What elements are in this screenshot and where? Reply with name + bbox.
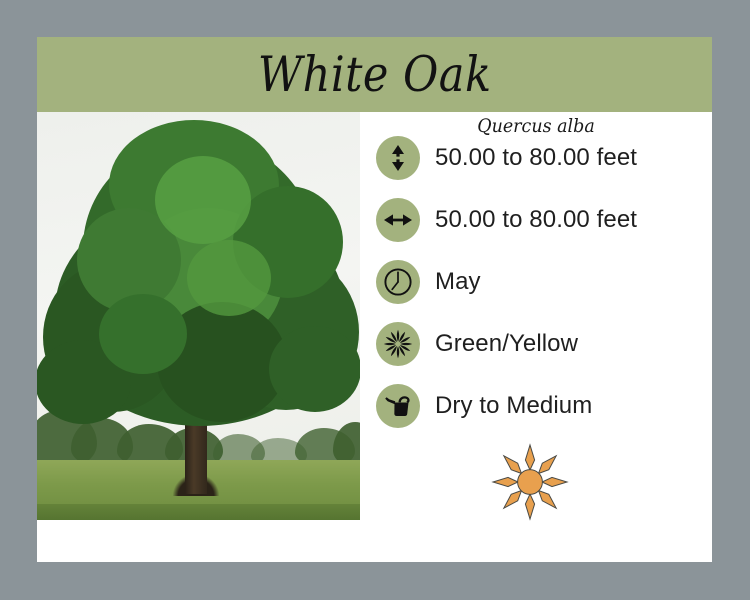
tree-photo <box>37 112 360 520</box>
scientific-name: Quercus alba <box>374 115 698 137</box>
page-title: White Oak <box>258 50 492 99</box>
plant-info-card: White Oak <box>37 37 712 562</box>
attribute-value-spread: 50.00 to 80.00 feet <box>435 206 637 234</box>
watering-can-icon <box>376 384 420 428</box>
attribute-value-height: 50.00 to 80.00 feet <box>435 144 637 172</box>
flower-icon <box>376 322 420 366</box>
attribute-row-height: 50.00 to 80.00 feet <box>376 136 637 180</box>
attribute-row-water: Dry to Medium <box>376 384 592 428</box>
attribute-row-spread: 50.00 to 80.00 feet <box>376 198 637 242</box>
attribute-row-bloom-color: Green/Yellow <box>376 322 578 366</box>
vertical-double-arrow-icon <box>376 136 420 180</box>
clock-icon <box>376 260 420 304</box>
sun-icon <box>490 442 570 522</box>
card-header-banner: White Oak <box>37 37 712 112</box>
attribute-value-bloom-time: May <box>435 268 481 296</box>
attribute-row-bloom-time: May <box>376 260 481 304</box>
horizontal-double-arrow-icon <box>376 198 420 242</box>
attribute-value-water: Dry to Medium <box>435 392 592 420</box>
attribute-value-bloom-color: Green/Yellow <box>435 330 578 358</box>
